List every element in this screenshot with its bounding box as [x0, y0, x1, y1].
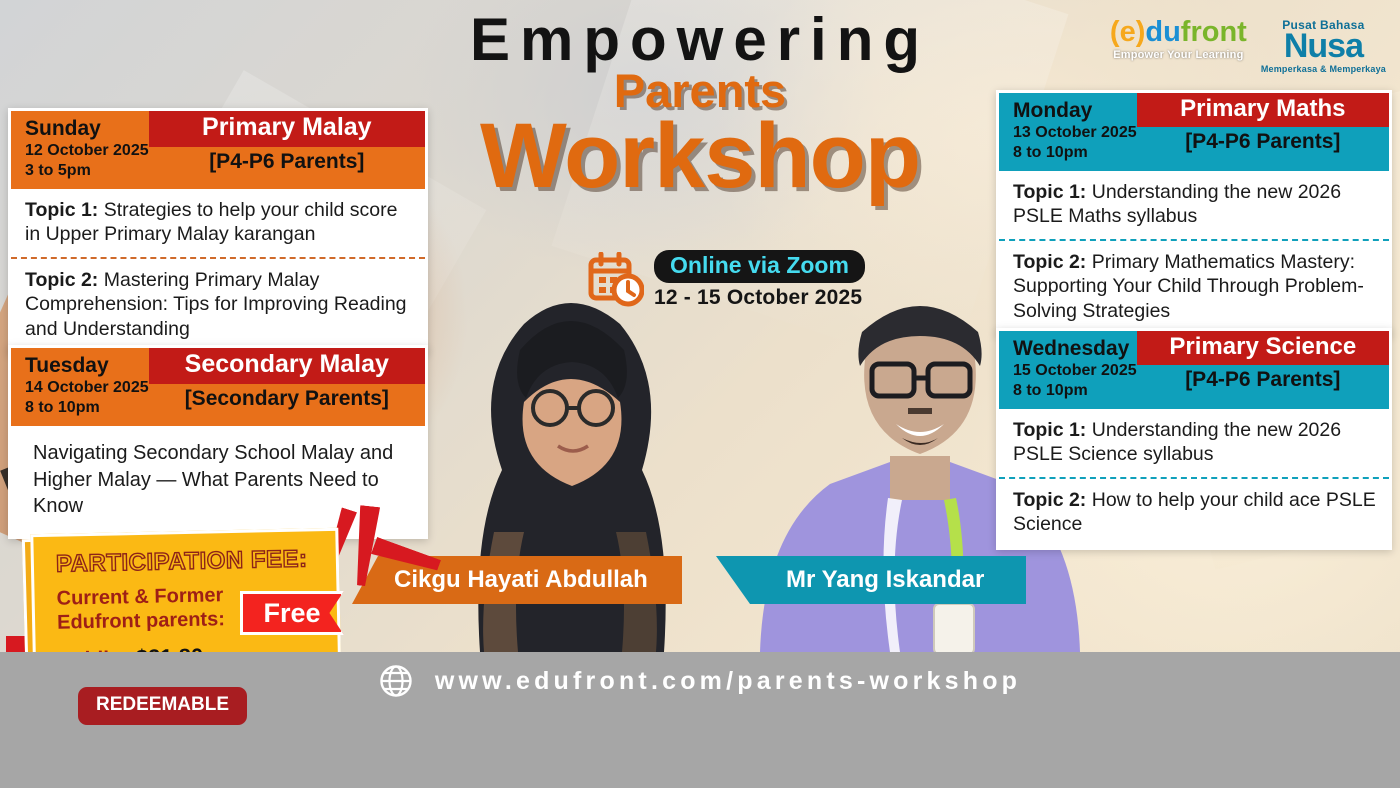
card-subject-area: Primary Malay [P4-P6 Parents] [149, 111, 425, 189]
session-date: 15 October 2025 [1013, 361, 1137, 381]
workshop-dates: 12 - 15 October 2025 [654, 286, 865, 310]
session-subject: Secondary Malay [149, 348, 425, 384]
redeemable-badge: REDEEMABLE [78, 687, 247, 725]
session-audience: [Secondary Parents] [185, 387, 389, 411]
topic-text: Topic 1: Understanding the new 2026 PSLE… [1013, 418, 1377, 467]
calendar-clock-icon [588, 252, 644, 308]
card-header: Wednesday 15 October 2025 8 to 10pm Prim… [999, 331, 1389, 409]
title-line-empowering: Empowering [430, 8, 970, 71]
session-card-primary-malay[interactable]: Sunday 12 October 2025 3 to 5pm Primary … [8, 108, 428, 354]
session-audience: [P4-P6 Parents] [209, 150, 364, 174]
session-card-primary-maths[interactable]: Monday 13 October 2025 8 to 10pm Primary… [996, 90, 1392, 336]
poster-root: Empowering Parents Workshop (e)dufront E… [0, 0, 1400, 788]
session-time: 8 to 10pm [1013, 381, 1137, 401]
session-date: 13 October 2025 [1013, 123, 1137, 143]
session-subject: Primary Science [1137, 331, 1389, 365]
session-date: 14 October 2025 [25, 378, 149, 398]
topic-row: Topic 1: Understanding the new 2026 PSLE… [999, 171, 1389, 239]
session-day: Tuesday [25, 355, 149, 378]
card-body: Topic 1: Understanding the new 2026 PSLE… [999, 409, 1389, 547]
card-schedule: Monday 13 October 2025 8 to 10pm [999, 93, 1137, 171]
fee-heading: PARTICIPATION FEE: [56, 545, 321, 579]
session-subject: Primary Maths [1137, 93, 1389, 127]
session-time: 8 to 10pm [1013, 143, 1137, 163]
session-audience: [P4-P6 Parents] [1185, 130, 1340, 154]
topic-label: Topic 1: [1013, 419, 1086, 441]
topic-text: Topic 2: Primary Mathematics Mastery: Su… [1013, 250, 1377, 323]
poster-title: Empowering Parents Workshop [430, 8, 970, 198]
topic-row: Topic 2: Mastering Primary Malay Compreh… [11, 257, 425, 351]
topic-text: Topic 1: Strategies to help your child s… [25, 198, 413, 247]
online-mode-badge: Online via Zoom [654, 250, 865, 283]
edufront-tagline: Empower Your Learning [1110, 49, 1247, 61]
edufront-front: front [1181, 16, 1247, 48]
speaker-name-banner-yang: Mr Yang Iskandar [716, 556, 1026, 604]
topic-row: Topic 1: Understanding the new 2026 PSLE… [999, 409, 1389, 477]
card-header: Monday 13 October 2025 8 to 10pm Primary… [999, 93, 1389, 171]
session-audience: [P4-P6 Parents] [1185, 368, 1340, 392]
session-day: Monday [1013, 100, 1137, 123]
edufront-logo: (e)dufront Empower Your Learning [1110, 18, 1247, 61]
card-subject-area: Primary Maths [P4-P6 Parents] [1137, 93, 1389, 171]
free-badge: Free [240, 591, 344, 635]
topic-row: Topic 1: Strategies to help your child s… [11, 189, 425, 257]
topic-text: Topic 1: Understanding the new 2026 PSLE… [1013, 180, 1377, 229]
card-header: Tuesday 14 October 2025 8 to 10pm Second… [11, 348, 425, 426]
session-time: 3 to 5pm [25, 161, 149, 181]
topic-label: Topic 1: [25, 199, 98, 221]
session-day: Sunday [25, 118, 149, 141]
session-card-primary-science[interactable]: Wednesday 15 October 2025 8 to 10pm Prim… [996, 328, 1392, 550]
card-schedule: Tuesday 14 October 2025 8 to 10pm [11, 348, 149, 426]
website-url: www.edufront.com/parents-workshop [435, 667, 1021, 696]
topic-label: Topic 2: [25, 269, 98, 291]
speaker-name-banner-hayati: Cikgu Hayati Abdullah [352, 556, 682, 604]
topic-row: Topic 2: How to help your child ace PSLE… [999, 477, 1389, 547]
topic-label: Topic 2: [1013, 489, 1086, 511]
globe-icon [379, 664, 413, 698]
edufront-du: du [1145, 16, 1180, 48]
topic-text: Topic 2: Mastering Primary Malay Compreh… [25, 268, 413, 341]
session-subject: Primary Malay [149, 111, 425, 147]
logo-group: (e)dufront Empower Your Learning Pusat B… [1110, 18, 1386, 74]
card-body: Topic 1: Understanding the new 2026 PSLE… [999, 171, 1389, 333]
card-schedule: Wednesday 15 October 2025 8 to 10pm [999, 331, 1137, 409]
title-line-workshop: Workshop [430, 114, 970, 199]
nusa-wordmark: Nusa [1261, 32, 1386, 62]
session-time: 8 to 10pm [25, 398, 149, 418]
card-schedule: Sunday 12 October 2025 3 to 5pm [11, 111, 149, 189]
card-subject-area: Primary Science [P4-P6 Parents] [1137, 331, 1389, 409]
nusa-logo: Pusat Bahasa Nusa Memperkasa & Memperkay… [1261, 18, 1386, 74]
topic-text: Topic 2: How to help your child ace PSLE… [1013, 488, 1377, 537]
topic-label: Topic 2: [1013, 251, 1086, 273]
topic-row: Topic 2: Primary Mathematics Mastery: Su… [999, 239, 1389, 333]
card-body: Topic 1: Strategies to help your child s… [11, 189, 425, 351]
topic-label: Topic 1: [1013, 181, 1086, 203]
zoom-text-group: Online via Zoom 12 - 15 October 2025 [654, 250, 865, 310]
card-header: Sunday 12 October 2025 3 to 5pm Primary … [11, 111, 425, 189]
session-date: 12 October 2025 [25, 141, 149, 161]
card-subject-area: Secondary Malay [Secondary Parents] [149, 348, 425, 426]
session-day: Wednesday [1013, 338, 1137, 361]
zoom-info-block: Online via Zoom 12 - 15 October 2025 [588, 250, 865, 310]
nusa-tagline: Memperkasa & Memperkaya [1261, 64, 1386, 74]
edufront-e: (e) [1110, 16, 1145, 48]
edufront-wordmark: (e)dufront [1110, 18, 1247, 47]
